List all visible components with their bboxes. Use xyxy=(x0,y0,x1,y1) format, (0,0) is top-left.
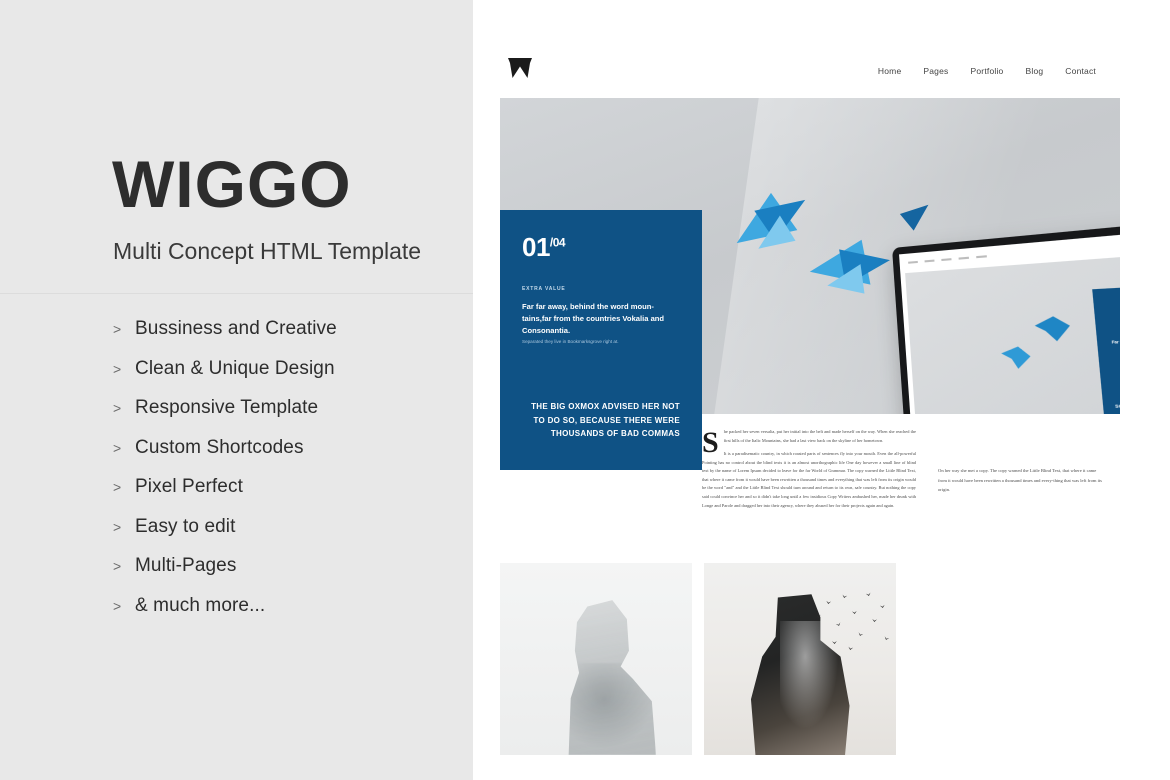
chevron-right-icon: > xyxy=(113,479,135,495)
article-dropcap: S xyxy=(702,430,719,456)
preview-canvas: WIGGO Multi Concept HTML Template > Buss… xyxy=(0,0,1170,780)
laptop-hero: 01 EXTRA VALUE Far far away, behind the … xyxy=(905,249,1120,414)
promo-panel: WIGGO Multi Concept HTML Template > Buss… xyxy=(0,0,473,780)
promo-divider xyxy=(0,293,473,294)
article-section: She packed her seven versalia, put her i… xyxy=(702,428,1102,510)
chevron-right-icon: > xyxy=(113,519,135,535)
hero-headline: Far far away, behind the word moun- tain… xyxy=(522,301,680,336)
gallery-item-dark-portrait[interactable] xyxy=(704,563,896,755)
chevron-right-icon: > xyxy=(113,440,135,456)
chevron-right-icon: > xyxy=(113,400,135,416)
feature-label: Responsive Template xyxy=(135,397,318,419)
feature-label: Pixel Perfect xyxy=(135,476,243,498)
feature-label: Bussiness and Creative xyxy=(135,318,337,340)
slide-counter: 01/04 xyxy=(522,234,680,260)
article-paragraph-1-text: he packed her seven versalia, put her in… xyxy=(724,429,916,443)
article-paragraph-2: It is a paradisematic country, in which … xyxy=(702,450,916,510)
feature-item-1: > Clean & Unique Design xyxy=(113,358,453,398)
flying-birds-icon xyxy=(812,589,894,661)
page-subtitle: Multi Concept HTML Template xyxy=(113,238,421,265)
nav-item-pages[interactable]: Pages xyxy=(923,66,948,76)
page-title: WIGGO xyxy=(112,151,352,217)
chevron-right-icon: > xyxy=(113,321,135,337)
site-header: Home Pages Portfolio Blog Contact xyxy=(483,40,1120,98)
feature-item-2: > Responsive Template xyxy=(113,397,453,437)
feature-item-3: > Custom Shortcodes xyxy=(113,437,453,477)
slide-number: 01 xyxy=(522,232,550,262)
feature-item-0: > Bussiness and Creative xyxy=(113,318,453,358)
feature-label: Custom Shortcodes xyxy=(135,437,304,459)
laptop-screen: 01 EXTRA VALUE Far far away, behind the … xyxy=(892,215,1120,414)
chevron-right-icon: > xyxy=(113,598,135,614)
wiggo-w-logo-icon[interactable] xyxy=(507,56,533,80)
hero-note: Separated they live in Bookmarksgrove ri… xyxy=(522,339,680,346)
slide-total: /04 xyxy=(550,235,565,249)
gallery-section xyxy=(500,563,896,755)
origami-bird-icon xyxy=(1001,346,1032,369)
hero-eyebrow: EXTRA VALUE xyxy=(522,286,680,292)
feature-label: & much more... xyxy=(135,595,265,617)
origami-bird-icon xyxy=(1034,316,1071,342)
laptop-quote: THE BIG OXMOX ADVISED HER NOT TO DO SO, … xyxy=(1112,395,1120,414)
feature-label: Clean & Unique Design xyxy=(135,358,335,380)
article-main-column: She packed her seven versalia, put her i… xyxy=(702,428,916,510)
laptop-headline: Far far away, behind the word moun- tain… xyxy=(1107,337,1120,353)
laptop-slide-number: 01 xyxy=(1103,293,1120,316)
laptop-hero-panel: 01 EXTRA VALUE Far far away, behind the … xyxy=(1092,281,1120,414)
article-side-column: On her way she met a copy. The copy warn… xyxy=(938,428,1102,510)
feature-label: Multi-Pages xyxy=(135,555,236,577)
feature-list: > Bussiness and Creative > Clean & Uniqu… xyxy=(113,318,453,634)
double-exposure-man-figure xyxy=(552,597,656,755)
main-nav: Home Pages Portfolio Blog Contact xyxy=(878,66,1096,76)
gallery-item-light-portrait[interactable] xyxy=(500,563,692,755)
hero-quote: THE BIG OXMOX ADVISED HER NOT TO DO SO, … xyxy=(522,400,680,440)
nav-item-portfolio[interactable]: Portfolio xyxy=(971,66,1004,76)
nav-item-contact[interactable]: Contact xyxy=(1065,66,1096,76)
laptop-nav xyxy=(908,255,987,264)
hero-slide-panel: 01/04 EXTRA VALUE Far far away, behind t… xyxy=(500,210,702,470)
feature-item-5: > Easy to edit xyxy=(113,516,453,556)
chevron-right-icon: > xyxy=(113,558,135,574)
article-paragraph-1: She packed her seven versalia, put her i… xyxy=(702,428,916,445)
feature-label: Easy to edit xyxy=(135,516,235,538)
feature-item-6: > Multi-Pages xyxy=(113,555,453,595)
chevron-right-icon: > xyxy=(113,361,135,377)
nav-item-home[interactable]: Home xyxy=(878,66,901,76)
laptop-note: Separated they live in Bookmarksgrove ri… xyxy=(1109,358,1120,365)
feature-item-4: > Pixel Perfect xyxy=(113,476,453,516)
laptop-screen-content: 01 EXTRA VALUE Far far away, behind the … xyxy=(899,225,1120,414)
laptop-eyebrow: EXTRA VALUE xyxy=(1106,326,1120,334)
article-sidebar-paragraph: On her way she met a copy. The copy warn… xyxy=(938,466,1102,495)
nav-item-blog[interactable]: Blog xyxy=(1025,66,1043,76)
feature-item-7: > & much more... xyxy=(113,595,453,635)
laptop-mockup: 01 EXTRA VALUE Far far away, behind the … xyxy=(892,248,1120,414)
website-mockup: Home Pages Portfolio Blog Contact xyxy=(483,40,1120,780)
